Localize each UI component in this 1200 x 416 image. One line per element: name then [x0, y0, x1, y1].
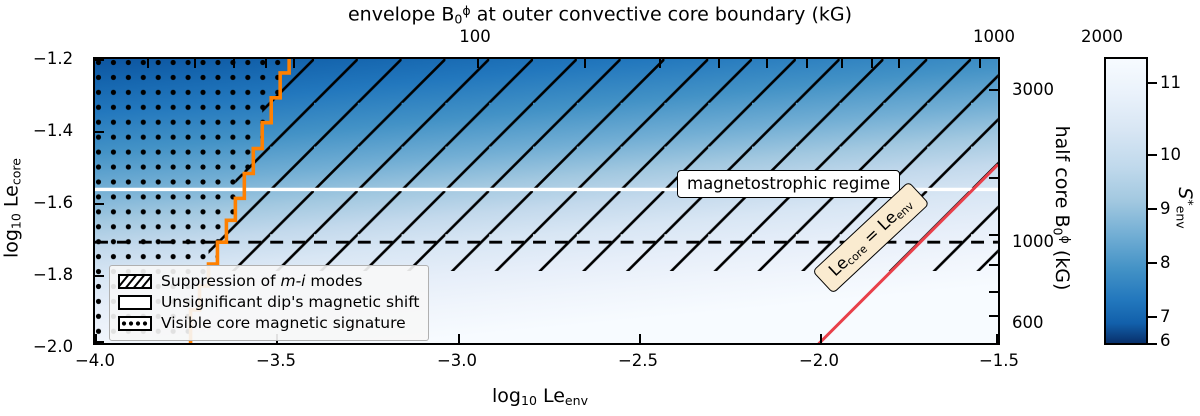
legend[interactable]: Suppression of m-i modes Unsignificant d… — [109, 265, 429, 341]
x-tick-label-4: −2.5 — [618, 351, 658, 370]
dots-swatch-icon — [118, 316, 152, 331]
y-tick-label-1: −1.2 — [33, 49, 73, 68]
x-tick-label-6: −1.5 — [979, 351, 1019, 370]
x-tick-label-3: −3.0 — [437, 351, 477, 370]
plain-swatch-icon — [118, 295, 152, 310]
top-tick-label-100: 100 — [459, 27, 491, 46]
cbar-tick-label-10: 10 — [1160, 145, 1181, 164]
figure-canvas: envelope B0ɸ at outer convective core bo… — [0, 0, 1200, 416]
legend-item-dots: Visible core magnetic signature — [118, 313, 419, 334]
x-tick-label-2: −3.5 — [256, 351, 296, 370]
cbar-tick-label-9: 9 — [1160, 199, 1171, 218]
colorbar — [1104, 57, 1148, 345]
colorbar-label: S*env — [1173, 187, 1196, 228]
hatch-swatch-icon — [118, 274, 152, 289]
y-tick-label-4: −1.8 — [33, 265, 73, 284]
cbar-tick-label-11: 11 — [1160, 73, 1181, 92]
cbar-tick-label-7: 7 — [1160, 307, 1171, 326]
y-tick-label-5: −2.0 — [33, 337, 73, 356]
cbar-tick-label-6: 6 — [1160, 331, 1171, 350]
y-axis-label: log10 Lecore — [1, 158, 24, 258]
cbar-tick-label-8: 8 — [1160, 253, 1171, 272]
legend-item-hatch: Suppression of m-i modes — [118, 271, 419, 292]
x-axis-label: log10 Leenv — [492, 385, 588, 408]
top-tick-label-1000: 1000 — [973, 27, 1015, 46]
x-tick-label-5: −2.0 — [799, 351, 839, 370]
top-axis-title: envelope B0ɸ at outer convective core bo… — [348, 3, 852, 26]
y-tick-label-2: −1.4 — [33, 121, 73, 140]
top-tick-label-2000: 2000 — [1081, 27, 1123, 46]
x-tick-label-1: −4.0 — [75, 351, 115, 370]
legend-label-plain: Unsignificant dip's magnetic shift — [161, 291, 419, 314]
legend-item-plain: Unsignificant dip's magnetic shift — [118, 292, 419, 313]
annotation-magnetostrophic-regime: magnetostrophic regime — [677, 170, 900, 198]
right-tick-label-600: 600 — [1012, 313, 1044, 332]
y-tick-label-3: −1.6 — [33, 193, 73, 212]
right-tick-label-1000: 1000 — [1012, 232, 1054, 251]
annotation-magnetostrophic-label: magnetostrophic regime — [687, 174, 890, 193]
right-axis-label: half core B0ɸ (kG) — [1050, 126, 1073, 291]
colorbar-gradient — [1106, 59, 1146, 343]
right-tick-label-3000: 3000 — [1012, 80, 1054, 99]
legend-label-dots: Visible core magnetic signature — [161, 312, 406, 335]
legend-label-hatch: Suppression of m-i modes — [161, 270, 362, 293]
